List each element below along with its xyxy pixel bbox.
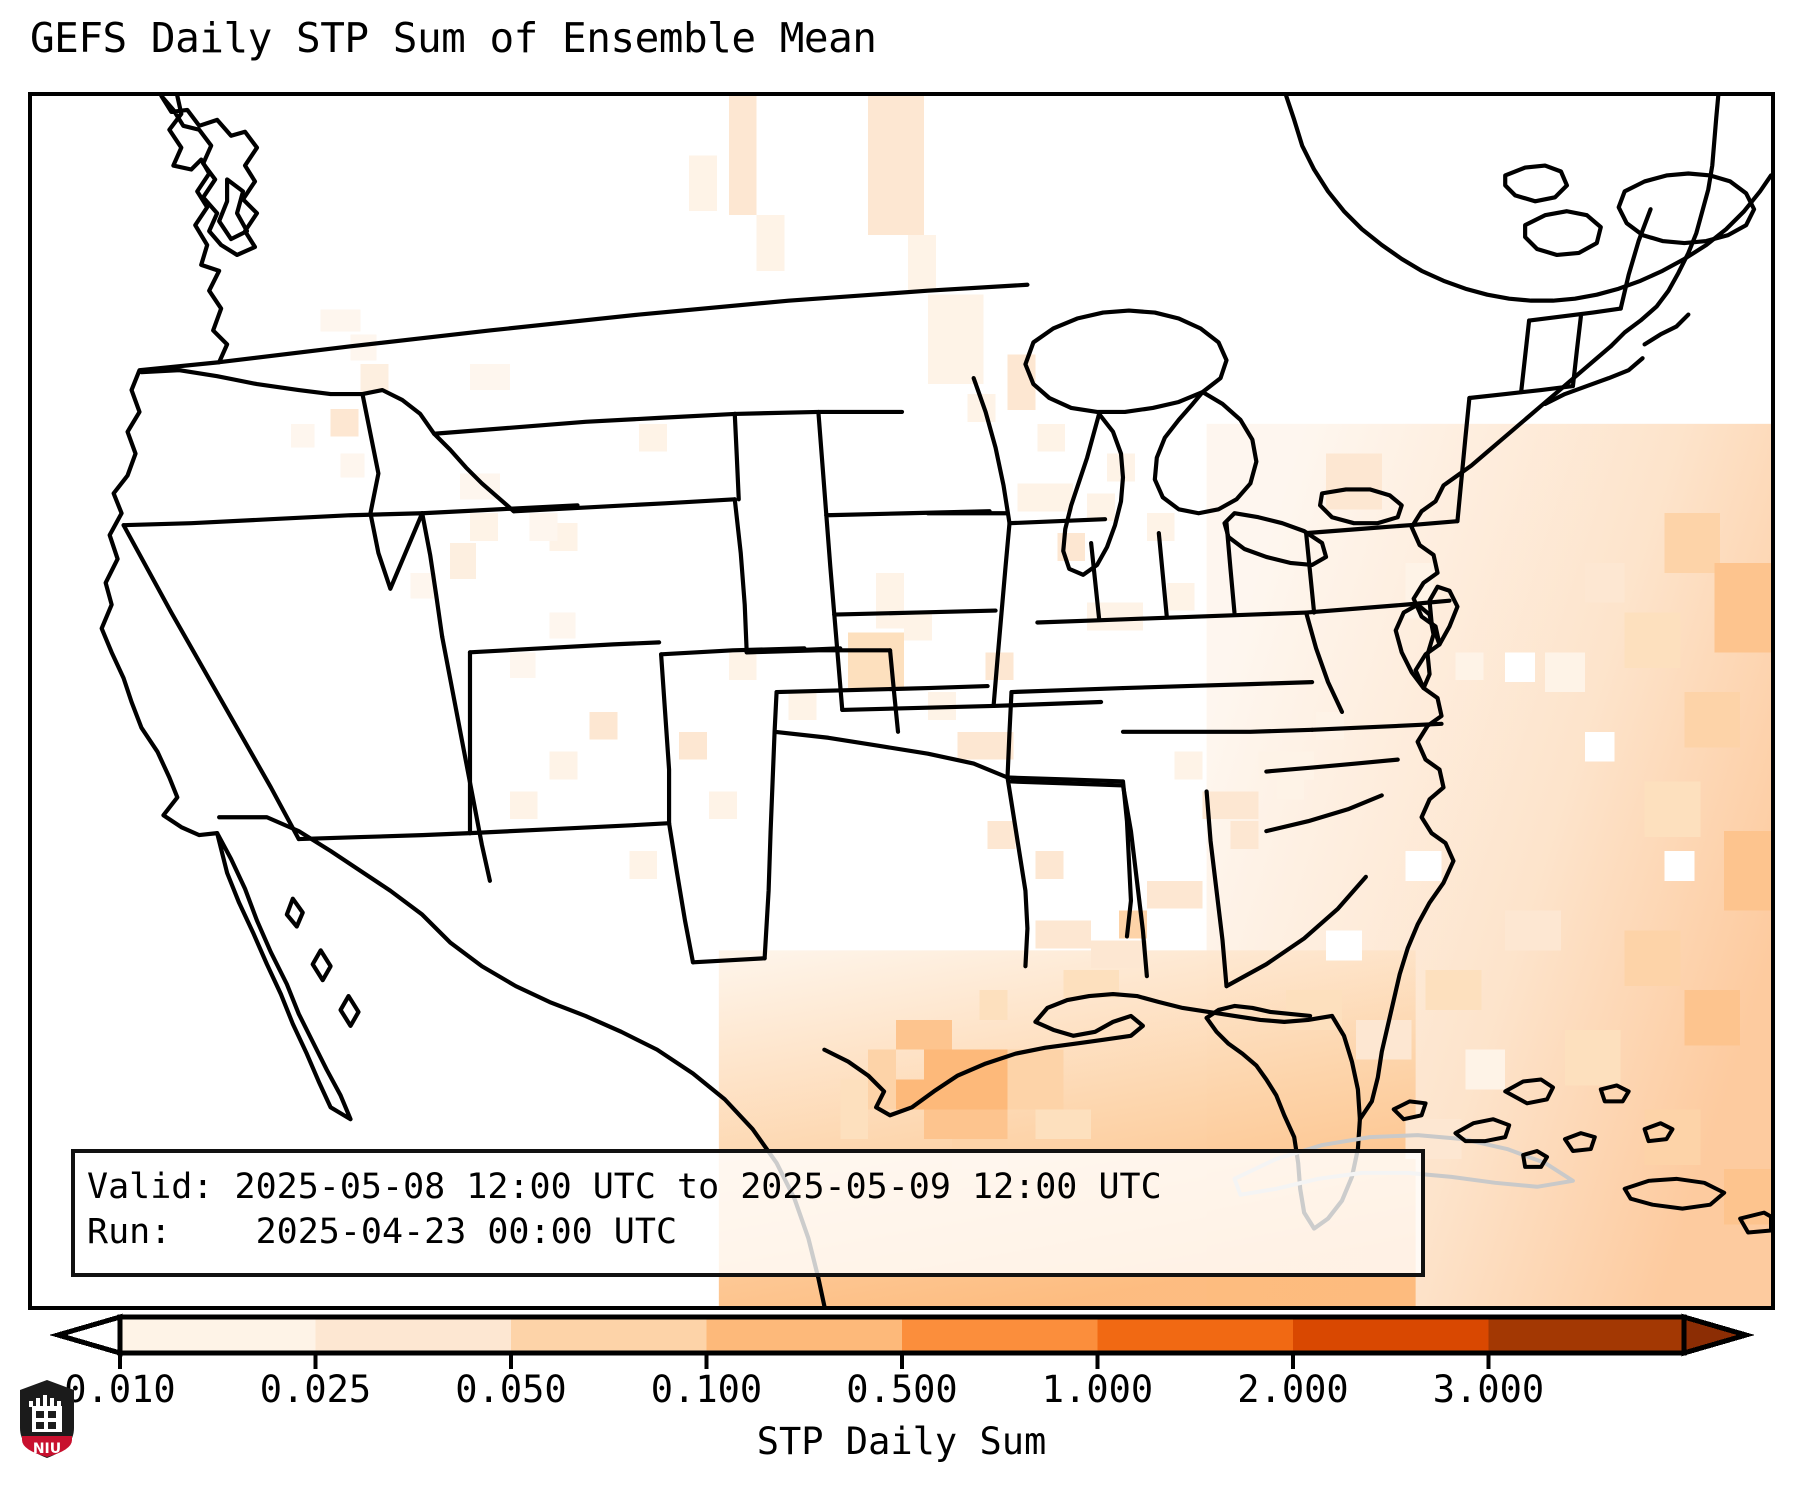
info-valid-line: Valid: 2025-05-08 12:00 UTC to 2025-05-0… bbox=[87, 1165, 1421, 1210]
colorbar-band-0 bbox=[120, 1317, 316, 1353]
colorbar-tick-label-3: 0.100 bbox=[651, 1368, 762, 1411]
info-box: Valid: 2025-05-08 12:00 UTC to 2025-05-0… bbox=[71, 1149, 1425, 1277]
colorbar-over-arrow bbox=[1684, 1317, 1746, 1353]
colorbar-axis-label: STP Daily Sum bbox=[0, 1420, 1803, 1463]
colorbar-band-6 bbox=[1293, 1317, 1489, 1353]
colorbar-tick-label-1: 0.025 bbox=[260, 1368, 371, 1411]
colorbar-band-5 bbox=[1098, 1317, 1294, 1353]
map-panel: Valid: 2025-05-08 12:00 UTC to 2025-05-0… bbox=[28, 92, 1775, 1310]
colorbar-band-7 bbox=[1489, 1317, 1685, 1353]
colorbar-band-1 bbox=[316, 1317, 512, 1353]
colorbar-tick-label-4: 0.500 bbox=[846, 1368, 957, 1411]
colorbar-tick-labels: 0.0100.0250.0500.1000.5001.0002.0003.000 bbox=[0, 1368, 1803, 1420]
colorbar-tick-label-5: 1.000 bbox=[1042, 1368, 1153, 1411]
colorbar-tick-label-0: 0.010 bbox=[64, 1368, 175, 1411]
geography-layer bbox=[32, 96, 1771, 1306]
niu-logo-text: NIU bbox=[33, 1441, 61, 1457]
colorbar-band-3 bbox=[707, 1317, 903, 1353]
info-run-line: Run: 2025-04-23 00:00 UTC bbox=[87, 1210, 1421, 1255]
colorbar-svg[interactable] bbox=[28, 1313, 1775, 1373]
colorbar-tick-label-6: 2.000 bbox=[1237, 1368, 1348, 1411]
colorbar[interactable] bbox=[28, 1313, 1775, 1373]
colorbar-under-arrow bbox=[58, 1317, 120, 1353]
niu-logo: NIU bbox=[16, 1378, 78, 1460]
colorbar-band-4 bbox=[902, 1317, 1098, 1353]
colorbar-band-2 bbox=[511, 1317, 707, 1353]
colorbar-tick-label-2: 0.050 bbox=[455, 1368, 566, 1411]
page-title: GEFS Daily STP Sum of Ensemble Mean bbox=[30, 14, 876, 62]
colorbar-tick-label-7: 3.000 bbox=[1433, 1368, 1544, 1411]
